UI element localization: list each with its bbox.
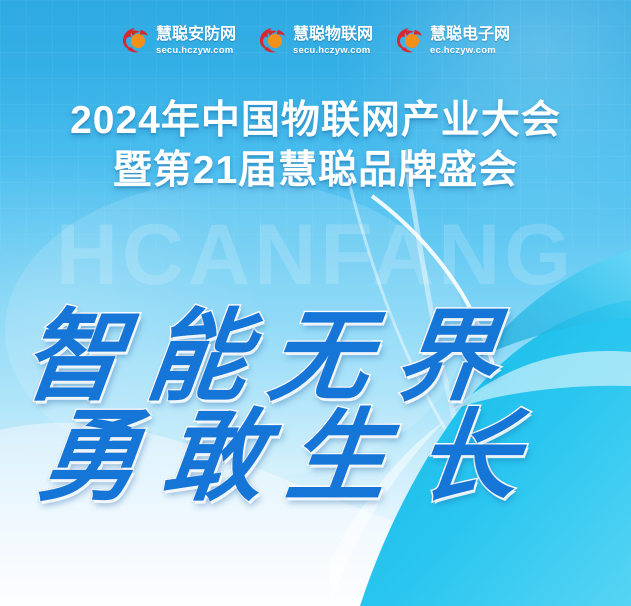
logo-url: secu.hczyw.com xyxy=(156,46,236,56)
logo-item-dianzi[interactable]: 慧聪电子网 ec.hczyw.com xyxy=(395,27,510,56)
partner-logo-bar: 慧聪安防网 secu.hczyw.com 慧聪物联网 secu.hczyw.co… xyxy=(0,18,631,64)
logo-text-block: 慧聪电子网 ec.hczyw.com xyxy=(430,27,510,56)
flame-sun-logo-icon xyxy=(395,27,425,55)
flame-sun-logo-icon xyxy=(121,27,151,55)
slogan-char: 界 xyxy=(389,300,503,412)
slogan-char: 生 xyxy=(281,400,395,512)
slogan-char: 智 xyxy=(17,300,131,412)
logo-item-secu-anfang[interactable]: 慧聪安防网 secu.hczyw.com xyxy=(121,27,236,56)
slogan-line-1: 智 能 无 界 xyxy=(0,300,631,412)
logo-text-block: 慧聪安防网 secu.hczyw.com xyxy=(156,27,236,56)
slogan-block: 智 能 无 界 勇 敢 生 长 xyxy=(0,300,631,512)
headline-line-2: 暨第21届慧聪品牌盛会 xyxy=(0,146,631,196)
headline-block: 2024年中国物联网产业大会 暨第21届慧聪品牌盛会 xyxy=(0,96,631,196)
slogan-char: 敢 xyxy=(157,400,271,512)
conference-poster: HCANFANG 慧聪安防网 secu.hczyw.com xyxy=(0,0,631,606)
flame-sun-logo-icon xyxy=(258,27,288,55)
slogan-line-2: 勇 敢 生 长 xyxy=(0,400,631,512)
logo-name-cn: 慧聪物联网 xyxy=(293,27,373,43)
logo-url: secu.hczyw.com xyxy=(293,46,373,56)
logo-name-cn: 慧聪安防网 xyxy=(156,27,236,43)
logo-text-block: 慧聪物联网 secu.hczyw.com xyxy=(293,27,373,56)
logo-url: ec.hczyw.com xyxy=(430,46,510,56)
slogan-char: 勇 xyxy=(33,400,147,512)
slogan-char: 能 xyxy=(141,300,255,412)
watermark-text: HCANFANG xyxy=(0,212,631,298)
logo-name-cn: 慧聪电子网 xyxy=(430,27,510,43)
logo-item-wulianwang[interactable]: 慧聪物联网 secu.hczyw.com xyxy=(258,27,373,56)
slogan-char: 长 xyxy=(411,400,525,512)
slogan-char: 无 xyxy=(263,300,377,412)
headline-line-1: 2024年中国物联网产业大会 xyxy=(0,96,631,146)
